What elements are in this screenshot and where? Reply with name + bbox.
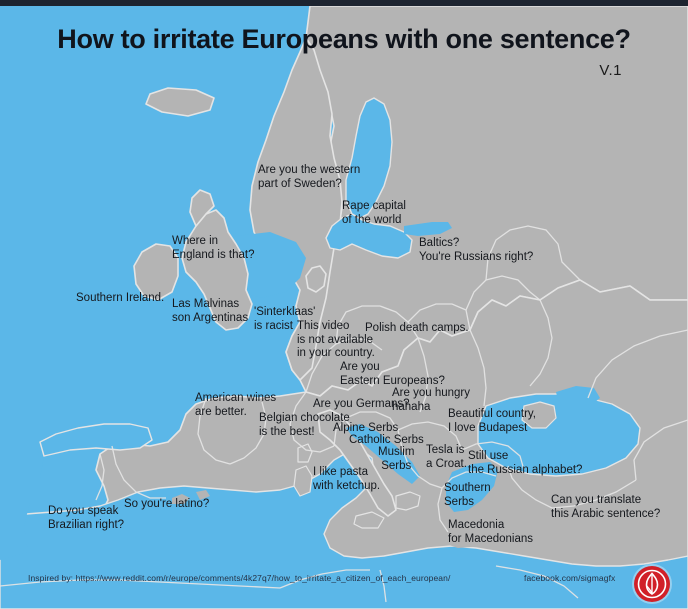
- map-label-italy: I like pasta with ketchup.: [313, 466, 380, 493]
- map-label-spain: So you're latino?: [124, 498, 209, 512]
- map-label-uk: Where in England is that?: [172, 235, 254, 262]
- map-label-germany: This video is not available in your coun…: [297, 320, 375, 361]
- map-label-poland: Polish death camps.: [365, 322, 469, 336]
- map-label-norway: Are you the western part of Sweden?: [258, 164, 360, 191]
- source-credit[interactable]: Inspired by: https://www.reddit.com/r/eu…: [28, 573, 450, 583]
- map-label-turkey: Can you translate this Arabic sentence?: [551, 494, 660, 521]
- map-label-falklands: Las Malvinas son Argentinas: [172, 298, 248, 325]
- version-label: V.1: [599, 62, 622, 79]
- top-border-bar: [0, 0, 688, 6]
- map-label-romania: Beautiful country, I love Budapest: [448, 408, 536, 435]
- map-label-greece: Macedonia for Macedonians: [448, 519, 533, 546]
- infographic-canvas: How to irritate Europeans with one sente…: [0, 0, 688, 609]
- map-label-baltics: Baltics? You're Russians right?: [419, 237, 533, 264]
- page-title: How to irritate Europeans with one sente…: [0, 24, 688, 55]
- map-label-montenegro: Southern Serbs: [444, 482, 491, 509]
- map-label-ireland: Southern Ireland.: [76, 292, 164, 306]
- map-label-serbia: Tesla is a Croat.: [426, 444, 467, 471]
- sigma-gfx-flame-logo: [634, 566, 670, 602]
- map-label-czech-slovak: Are you Eastern Europeans?: [340, 361, 445, 388]
- map-label-portugal: Do you speak Brazilian right?: [48, 505, 124, 532]
- map-label-bosnia: Muslim Serbs: [378, 446, 414, 473]
- facebook-credit[interactable]: facebook.com/sigmagfx: [524, 573, 615, 583]
- map-label-bulgaria: Still use the Russian alphabet?: [468, 450, 582, 477]
- sardinia: [294, 466, 312, 496]
- map-label-austria: Are you Germans?: [313, 398, 410, 412]
- map-label-sweden: Rape capital of the world: [342, 200, 406, 227]
